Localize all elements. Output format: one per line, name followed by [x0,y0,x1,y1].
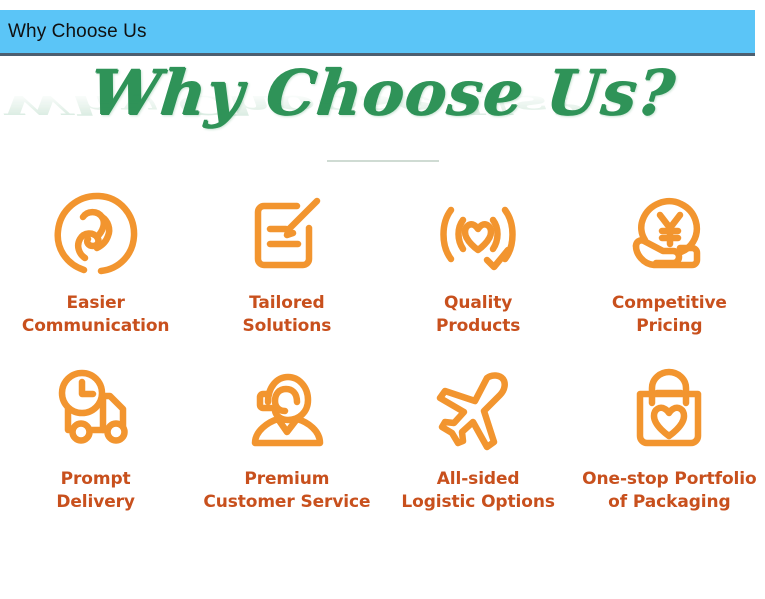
feature-cell-one-stop-portfolio-of-packaging[interactable]: One-stop Portfolio of Packaging [574,358,765,514]
feature-label: Tailored Solutions [242,292,331,338]
feature-cell-all-sided-logistic-options[interactable]: All-sided Logistic Options [383,358,574,514]
feature-cell-quality-products[interactable]: Quality Products [383,182,574,338]
ear-in-circle-icon [50,182,142,286]
feature-label: Premium Customer Service [203,468,370,514]
heart-signal-check-icon [432,182,524,286]
feature-row: Prompt Delivery Premium Customer Service [0,358,765,514]
hero-divider [327,160,439,162]
delivery-truck-clock-icon [50,358,142,462]
feature-label: All-sided Logistic Options [401,468,554,514]
feature-cell-easier-communication[interactable]: Easier Communication [0,182,191,338]
feature-cell-tailored-solutions[interactable]: Tailored Solutions [191,182,382,338]
feature-label: One-stop Portfolio of Packaging [582,468,756,514]
feature-cell-premium-customer-service[interactable]: Premium Customer Service [191,358,382,514]
hero-title-reflection: Why Choose Us? [0,92,765,118]
headset-agent-icon [241,358,333,462]
page-content: Why Choose Us? Why Choose Us? Easier Com… [0,56,765,599]
shopping-bag-heart-icon [623,358,715,462]
feature-cell-competitive-pricing[interactable]: Competitive Pricing [574,182,765,338]
hero-section: Why Choose Us? Why Choose Us? [0,56,765,166]
window-header-bar: Why Choose Us [0,10,755,53]
feature-label: Prompt Delivery [56,468,135,514]
document-pencil-icon [241,182,333,286]
feature-label: Competitive Pricing [612,292,727,338]
window-title: Why Choose Us [0,22,147,41]
hand-holding-yen-coin-icon [623,182,715,286]
feature-grid: Easier Communication Tailored Solutions [0,182,765,514]
feature-cell-prompt-delivery[interactable]: Prompt Delivery [0,358,191,514]
feature-label: Quality Products [436,292,520,338]
airplane-icon [432,358,524,462]
feature-row: Easier Communication Tailored Solutions [0,182,765,338]
feature-label: Easier Communication [22,292,170,338]
